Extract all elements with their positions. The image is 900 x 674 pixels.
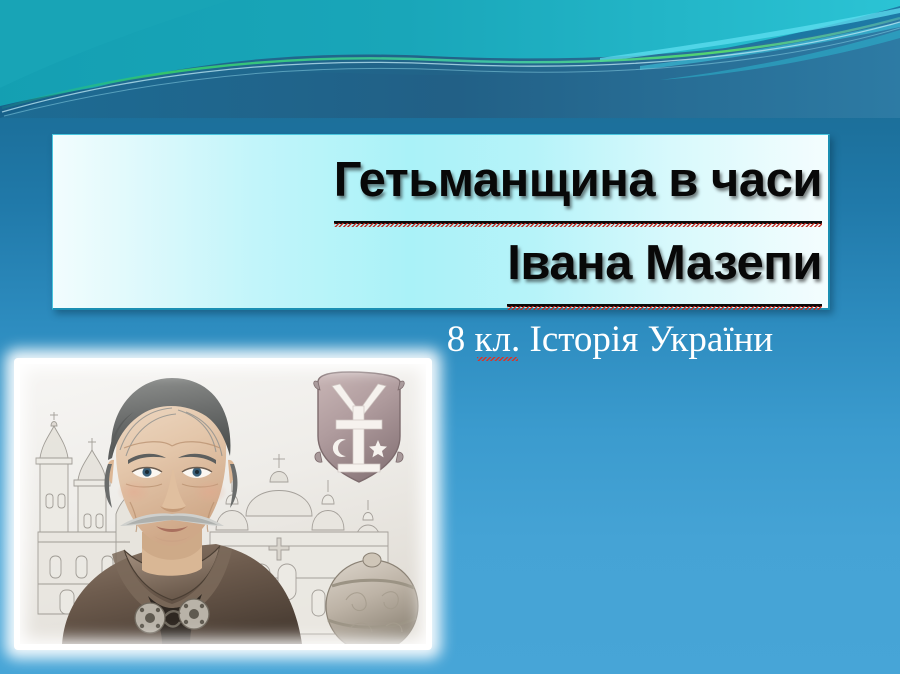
- portrait-picture[interactable]: [14, 358, 432, 650]
- page-title-line-2: Івана Мазепи: [63, 224, 822, 307]
- waveform-decoration: [0, 0, 900, 118]
- subtitle-placeholder[interactable]: 8 кл. Історія України: [330, 318, 890, 362]
- picture-canvas: [20, 364, 426, 644]
- subtitle-prefix: 8: [447, 319, 475, 360]
- page-title-line-2-text: Івана Мазепи: [507, 224, 822, 307]
- subtitle-spellcheck-word: кл.: [475, 318, 521, 362]
- page-title-line-1: Гетьманщина в часи: [63, 141, 822, 224]
- subtitle-suffix: Історія України: [520, 319, 773, 360]
- presentation-slide: Гетьманщина в часи Івана Мазепи 8 кл. Іс…: [0, 0, 900, 674]
- title-placeholder[interactable]: Гетьманщина в часи Івана Мазепи: [52, 134, 830, 310]
- page-title-line-1-text: Гетьманщина в часи: [334, 141, 822, 224]
